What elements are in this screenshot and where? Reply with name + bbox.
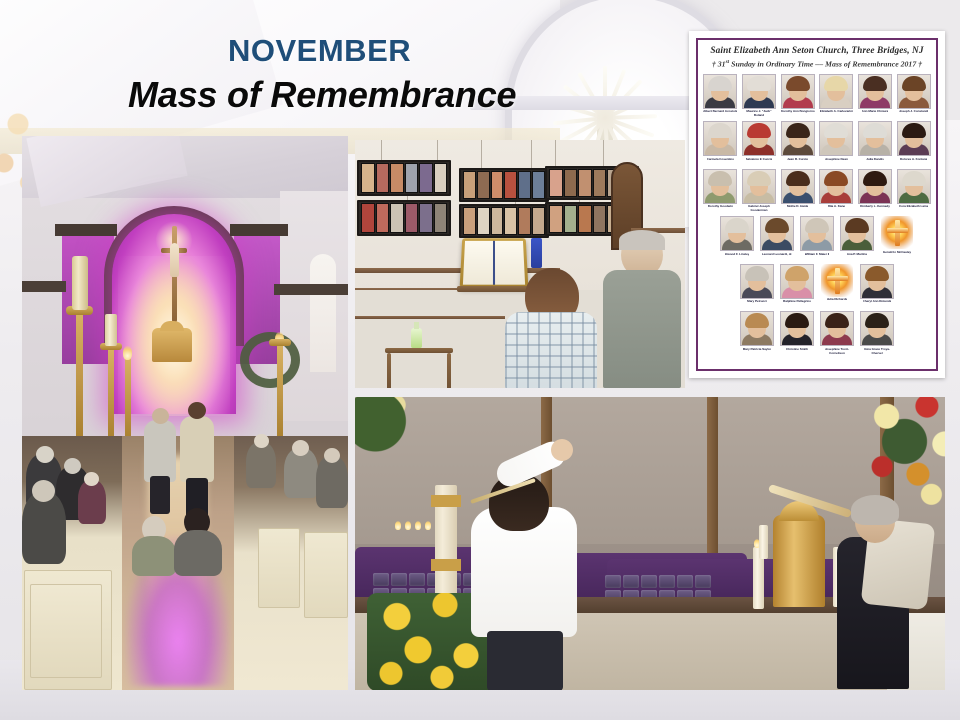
portrait-thumbnail [703, 169, 737, 204]
memorial-portrait-cell: William F. Maier II [799, 216, 835, 261]
memorial-portrait-cell: Albert Bernard Acostola [703, 74, 738, 119]
memorial-name-label: Dorothy Goodwin [708, 205, 733, 213]
portrait-thumbnail [760, 216, 794, 251]
memorial-portrait-cell: Maurice J. “Jack” Boland [742, 74, 777, 119]
memorial-portrait-cell: Ann Marie Chmura [858, 74, 893, 119]
memorial-name-label: Maurice J. “Jack” Boland [742, 110, 777, 118]
portrait-thumbnail [781, 74, 815, 109]
memorial-name-label: Joseph J. Constandi [899, 110, 928, 118]
portrait-thumbnail [703, 74, 737, 109]
person-viewing-right [603, 232, 681, 388]
memorial-name-label: Elizabeth A. Carlevarini [820, 110, 853, 118]
memorial-name-label: Mary Petrucci [747, 300, 767, 308]
memorial-portrait-cell: Kimberly L. Kennedy [858, 169, 893, 214]
portrait-thumbnail [858, 74, 892, 109]
church-window [310, 254, 336, 372]
memorial-poster[interactable]: Saint Elizabeth Ann Seton Church, Three … [689, 31, 945, 378]
memorial-name-label: Julia Dandis [866, 158, 884, 166]
portrait-thumbnail [840, 216, 874, 251]
memorial-name-label: Mary Patricia Saylor [743, 348, 772, 356]
memorial-portrait-grid: Albert Bernard AcostolaMaurice J. “Jack”… [703, 74, 931, 356]
memorial-portrait-cell: Ana P. Martins [839, 216, 875, 261]
memorial-name-label: Gerald H. McCauley [883, 251, 911, 259]
memorial-portrait-cell: Cheryl Ann Rotunda [859, 264, 895, 309]
memorial-portrait-cell: Christine Smith [779, 311, 815, 356]
portrait-thumbnail [897, 74, 931, 109]
gold-tabernacle [773, 515, 825, 607]
crucifix-icon [161, 226, 187, 322]
church-altar [134, 328, 214, 376]
memorial-portrait-cell: Elwood F. Linsley [719, 216, 755, 261]
portrait-thumbnail [897, 169, 931, 204]
poster-title: Saint Elizabeth Ann Seton Church, Three … [703, 46, 931, 58]
portrait-thumbnail [742, 169, 776, 204]
portrait-thumbnail [780, 311, 814, 346]
portrait-thumbnail [740, 264, 774, 299]
photo-candle-lighting [355, 397, 945, 690]
memorial-name-label: Josephine Tocci-Cornelison [819, 348, 855, 356]
memorial-name-label: Christine Smith [786, 348, 808, 356]
portrait-thumbnail [858, 169, 892, 204]
memorial-cross-cell: Julia Richards [819, 264, 855, 309]
memorial-portrait-cell: Carmela Cosentino [703, 121, 738, 166]
photo-church-sanctuary [22, 136, 348, 690]
memorial-name-label: Dolores A. Fontana [900, 158, 927, 166]
memorial-name-label: Jean R. Curcio [787, 158, 808, 166]
portrait-thumbnail [780, 264, 814, 299]
memorial-portrait-cell: Julia Dandis [858, 121, 893, 166]
memorial-poster-frame: Saint Elizabeth Ann Seton Church, Three … [696, 38, 938, 371]
memorial-name-label: Cheryl Ann Rotunda [863, 300, 892, 308]
memorial-cross-cell: Gerald H. McCauley [879, 216, 915, 261]
sanitizer-bottle [411, 328, 422, 348]
portrait-thumbnail [781, 121, 815, 156]
memorial-portrait-cell: Rita A. Kane [819, 169, 854, 214]
memorial-portrait-cell: Mollie D. Haide [780, 169, 815, 214]
memorial-portrait-cell: Dolores A. Fontana [896, 121, 931, 166]
memorial-portrait-row: Dorothy GoodwinGabriel Joseph GoodermanM… [703, 169, 931, 214]
memorial-frame [459, 168, 549, 202]
presentation-slide: NOVEMBER Mass of Remembrance [0, 0, 960, 720]
memorial-portrait-cell: Mary Petrucci [739, 264, 775, 309]
memorial-portrait-cell: Joseph J. Constandi [896, 74, 931, 119]
memorial-name-label: Gabriel Joseph Gooderman [742, 205, 777, 213]
glowing-cross-icon [881, 216, 913, 249]
memorial-name-label: Kimberly L. Kennedy [860, 205, 890, 213]
portrait-thumbnail [703, 121, 737, 156]
portrait-thumbnail [781, 169, 815, 204]
memorial-portrait-cell: Gabriel Joseph Gooderman [742, 169, 777, 214]
person-lighting-candle-dark [825, 485, 935, 690]
memorial-frame [357, 160, 451, 196]
memorial-name-label: Josephine Dean [825, 158, 848, 166]
slide-month-title: NOVEMBER [228, 33, 411, 69]
portrait-thumbnail [720, 216, 754, 251]
memorial-name-label: Gina Grace Troya-Chervel [859, 348, 895, 356]
memorial-portrait-cell: Mary Patricia Saylor [739, 311, 775, 356]
page-title: Mass of Remembrance [128, 74, 516, 116]
memorial-portrait-cell: Gina Grace Troya-Chervel [859, 311, 895, 356]
left-greenery [355, 397, 415, 469]
memorial-portrait-cell: Ralphine Pellegrino [779, 264, 815, 309]
portrait-thumbnail [742, 121, 776, 156]
portrait-thumbnail [740, 311, 774, 346]
memorial-name-label: William F. Maier II [805, 253, 830, 261]
glowing-cross-icon [821, 264, 853, 297]
portrait-thumbnail [800, 216, 834, 251]
memorial-portrait-cell: Leonard Leonardi, Jr. [759, 216, 795, 261]
memorial-frame [459, 204, 549, 238]
memorial-name-label: Dorothy Ann Bongiorno [781, 110, 815, 118]
memorial-name-label: Ann Marie Chmura [862, 110, 889, 118]
photo-memorial-boards [355, 140, 685, 388]
memorial-portrait-row: Carmela CosentinoSalvatore E CucciaJean … [703, 121, 931, 166]
memorial-portrait-cell: Dorothy Goodwin [703, 169, 738, 214]
memorial-name-label: Albert Bernard Acostola [703, 110, 737, 118]
blue-container [531, 238, 542, 268]
memorial-portrait-row: Albert Bernard AcostolaMaurice J. “Jack”… [703, 74, 931, 119]
portrait-thumbnail [819, 74, 853, 109]
memorial-portrait-row: Mary PetrucciRalphine PellegrinoJulia Ri… [703, 264, 931, 309]
memorial-name-label: Ralphine Pellegrino [783, 300, 811, 308]
portrait-thumbnail [819, 169, 853, 204]
memorial-name-label: Cora Elizabeth Laine [899, 205, 928, 213]
memorial-portrait-cell: Josephine Dean [819, 121, 854, 166]
poster-subtitle: † 31st Sunday in Ordinary Time –– Mass o… [703, 59, 931, 70]
memorial-portrait-row: Mary Patricia SaylorChristine SmithJosep… [703, 311, 931, 356]
portrait-thumbnail [860, 311, 894, 346]
memorial-portrait-cell: Jean R. Curcio [780, 121, 815, 166]
memorial-name-label: Elwood F. Linsley [725, 253, 750, 261]
memorial-name-label: Ana P. Martins [847, 253, 867, 261]
memorial-name-label: Rita A. Kane [828, 205, 846, 213]
poster-subtitle-prefix: † 31 [712, 59, 726, 68]
memorial-frame [357, 200, 451, 236]
memorial-name-label: Leonard Leonardi, Jr. [762, 253, 792, 261]
memorial-portrait-cell: Elizabeth A. Carlevarini [819, 74, 854, 119]
memorial-portrait-cell: Dorothy Ann Bongiorno [780, 74, 815, 119]
memorial-portrait-row: Elwood F. LinsleyLeonard Leonardi, Jr.Wi… [703, 216, 931, 261]
portrait-thumbnail [860, 264, 894, 299]
memorial-name-label: Carmela Cosentino [707, 158, 734, 166]
person-viewing-left [505, 268, 597, 388]
portrait-thumbnail [897, 121, 931, 156]
memorial-portrait-cell: Josephine Tocci-Cornelison [819, 311, 855, 356]
portrait-thumbnail [742, 74, 776, 109]
portrait-thumbnail [820, 311, 854, 346]
person-lighting-candle-white [447, 455, 587, 690]
memorial-portrait-cell: Salvatore E Cuccia [742, 121, 777, 166]
poster-subtitle-rest: Sunday in Ordinary Time –– Mass of Remem… [729, 59, 922, 68]
memorial-portrait-cell: Cora Elizabeth Laine [896, 169, 931, 214]
memorial-name-label: Mollie D. Haide [787, 205, 808, 213]
memorial-name-label: Julia Richards [827, 298, 847, 306]
memorial-name-label: Salvatore E Cuccia [746, 158, 773, 166]
portrait-thumbnail [819, 121, 853, 156]
portrait-thumbnail [858, 121, 892, 156]
